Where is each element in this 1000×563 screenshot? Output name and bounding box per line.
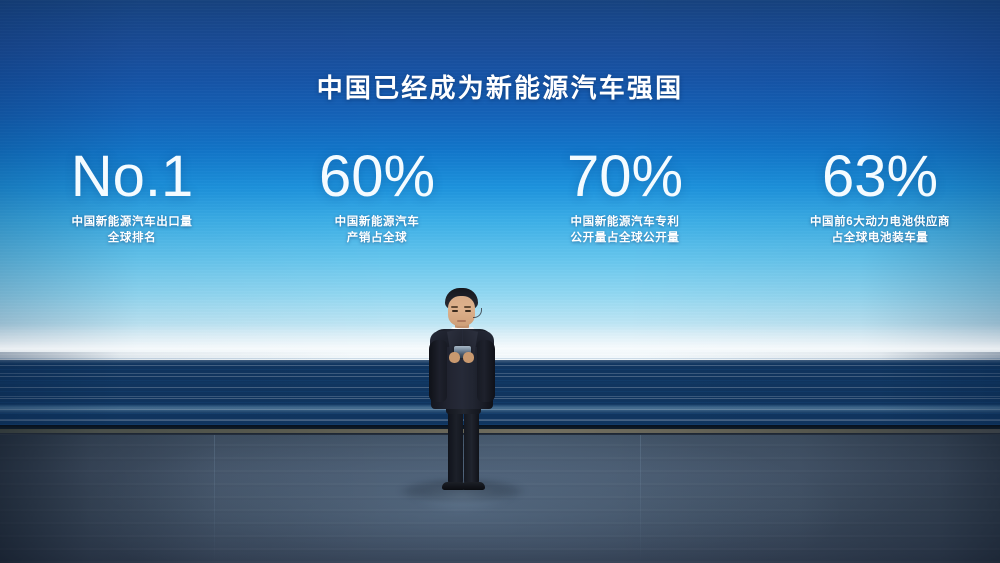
speaker-eyebrow-right bbox=[464, 306, 471, 308]
stat-caption: 中国新能源汽车专利 公开量占全球公开量 bbox=[525, 214, 725, 246]
stat-caption-line-2: 公开量占全球公开量 bbox=[525, 230, 725, 246]
speaker-eyebrow-left bbox=[451, 306, 458, 308]
stat-value: 60% bbox=[277, 146, 477, 208]
stat-caption-line-2: 产销占全球 bbox=[277, 230, 477, 246]
stat-value: 63% bbox=[780, 146, 980, 208]
stat-caption: 中国新能源汽车 产销占全球 bbox=[277, 214, 477, 246]
speaker-leg-right bbox=[464, 403, 479, 485]
stat-caption-line-2: 全球排名 bbox=[32, 230, 232, 246]
stat-value: 70% bbox=[525, 146, 725, 208]
statistics-row: No.1 中国新能源汽车出口量 全球排名 60% 中国新能源汽车 产销占全球 7… bbox=[0, 146, 1000, 246]
speaker-figure bbox=[404, 288, 520, 500]
speaker-floor-reflection bbox=[396, 484, 528, 528]
stat-block-export-ranking: No.1 中国新能源汽车出口量 全球排名 bbox=[32, 146, 232, 246]
speaker-hand-right bbox=[463, 352, 474, 363]
stat-caption-line-1: 中国新能源汽车出口量 bbox=[32, 214, 232, 230]
stat-caption-line-2: 占全球电池装车量 bbox=[780, 230, 980, 246]
stat-caption: 中国新能源汽车出口量 全球排名 bbox=[32, 214, 232, 246]
slide-title: 中国已经成为新能源汽车强国 bbox=[0, 68, 1000, 105]
stat-block-production-share: 60% 中国新能源汽车 产销占全球 bbox=[277, 146, 477, 246]
presentation-stage-photo: 中国已经成为新能源汽车强国 No.1 中国新能源汽车出口量 全球排名 60% 中… bbox=[0, 0, 1000, 563]
stat-caption-line-1: 中国新能源汽车专利 bbox=[525, 214, 725, 230]
headset-microphone-icon bbox=[473, 308, 482, 318]
stat-value: No.1 bbox=[32, 146, 232, 208]
speaker-leg-left bbox=[448, 403, 463, 485]
stat-block-battery-supplier-share: 63% 中国前6大动力电池供应商 占全球电池装车量 bbox=[780, 146, 980, 246]
stat-caption: 中国前6大动力电池供应商 占全球电池装车量 bbox=[780, 214, 980, 246]
speaker-eye-right bbox=[465, 310, 471, 312]
speaker-arm-left bbox=[429, 340, 447, 402]
stat-caption-line-1: 中国新能源汽车 bbox=[277, 214, 477, 230]
stat-block-patent-share: 70% 中国新能源汽车专利 公开量占全球公开量 bbox=[525, 146, 725, 246]
speaker-shoe-right bbox=[462, 482, 485, 490]
speaker-mouth bbox=[457, 320, 466, 322]
speaker-hand-left bbox=[449, 352, 460, 363]
stat-caption-line-1: 中国前6大动力电池供应商 bbox=[780, 214, 980, 230]
speaker-eye-left bbox=[452, 310, 458, 312]
speaker-arm-right bbox=[477, 340, 495, 402]
